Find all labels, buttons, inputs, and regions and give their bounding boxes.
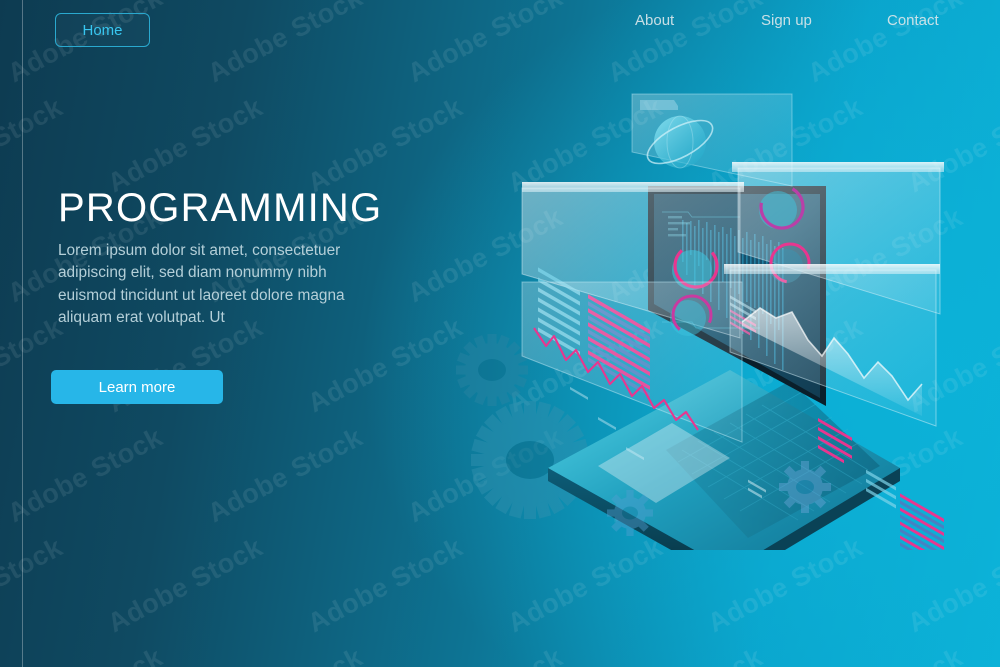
watermark-text: Adobe Stock [3, 642, 168, 667]
page-canvas: Adobe StockAdobe StockAdobe StockAdobe S… [0, 0, 1000, 667]
credit-divider [22, 0, 25, 667]
watermark-text: Adobe Stock [403, 642, 568, 667]
nav-link-signup[interactable]: Sign up [761, 12, 812, 29]
top-navigation: Home About Sign up Contact [0, 0, 1000, 50]
watermark-text: Adobe Stock [3, 422, 168, 529]
hero-illustration [430, 70, 1000, 550]
nav-link-contact[interactable]: Contact [887, 12, 939, 29]
gear-small-left [607, 490, 653, 536]
gear-small-right [779, 461, 831, 513]
watermark-text: Adobe Stock [803, 642, 968, 667]
learn-more-button[interactable]: Learn more [51, 370, 223, 404]
watermark-text: Adobe Stock [0, 532, 68, 639]
watermark-text: Adobe Stock [0, 92, 68, 199]
watermark-text: Adobe Stock [203, 642, 368, 667]
nav-link-about[interactable]: About [635, 12, 674, 29]
hero-body-text: Lorem ipsum dolor sit amet, consectetuer… [58, 240, 353, 330]
page-title: PROGRAMMING [58, 186, 382, 231]
watermark-text: Adobe Stock [203, 422, 368, 529]
gear-medium [456, 334, 528, 406]
watermark-text: Adobe Stock [603, 642, 768, 667]
watermark-text: Adobe Stock [103, 532, 268, 639]
watermark-text: Adobe Stock [103, 92, 268, 199]
nav-home-button[interactable]: Home [55, 13, 150, 47]
